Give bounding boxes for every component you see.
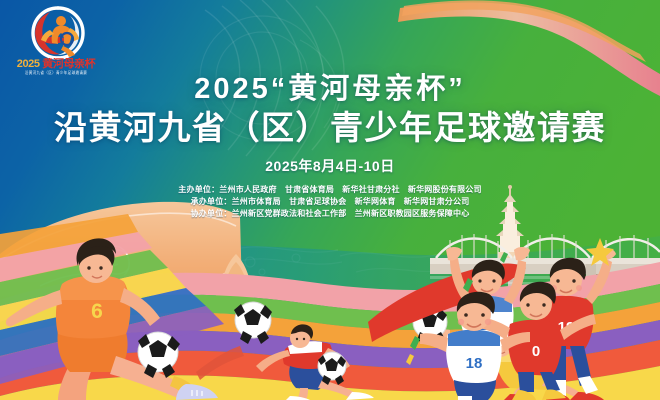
poster-title-line1: 2025“黄河母亲杯” bbox=[0, 72, 660, 106]
poster-title-line2: 沿黄河九省（区）青少年足球邀请赛 bbox=[0, 108, 660, 148]
yellow-river-mother-cup-emblem bbox=[30, 6, 86, 60]
jersey-number-6: 6 bbox=[91, 300, 103, 323]
poster-text-block: 2025“黄河母亲杯” 沿黄河九省（区）青少年足球邀请赛 2025年8月4日-1… bbox=[0, 72, 660, 220]
poster-canvas: 6 bbox=[0, 0, 660, 400]
organizer-line-host: 主办单位：兰州市人民政府 甘肃省体育局 新华社甘肃分社 新华网股份有限公司 bbox=[0, 184, 660, 196]
poster-date: 2025年8月4日-10日 bbox=[0, 157, 660, 175]
organizer-line-coorganizer: 协办单位：兰州新区党群政法和社会工作部 兰州新区职教园区服务保障中心 bbox=[0, 208, 660, 220]
organizer-line-undertaker: 承办单位：兰州市体育局 甘肃省足球协会 新华网体育 新华网甘肃分公司 bbox=[0, 196, 660, 208]
logo-wordmark-main: 2025 黄河母亲杯 bbox=[14, 58, 98, 70]
organizer-block: 主办单位：兰州市人民政府 甘肃省体育局 新华社甘肃分社 新华网股份有限公司 承办… bbox=[0, 184, 660, 220]
jersey-number-0: 0 bbox=[532, 343, 540, 360]
jersey-number-18: 18 bbox=[466, 355, 483, 372]
